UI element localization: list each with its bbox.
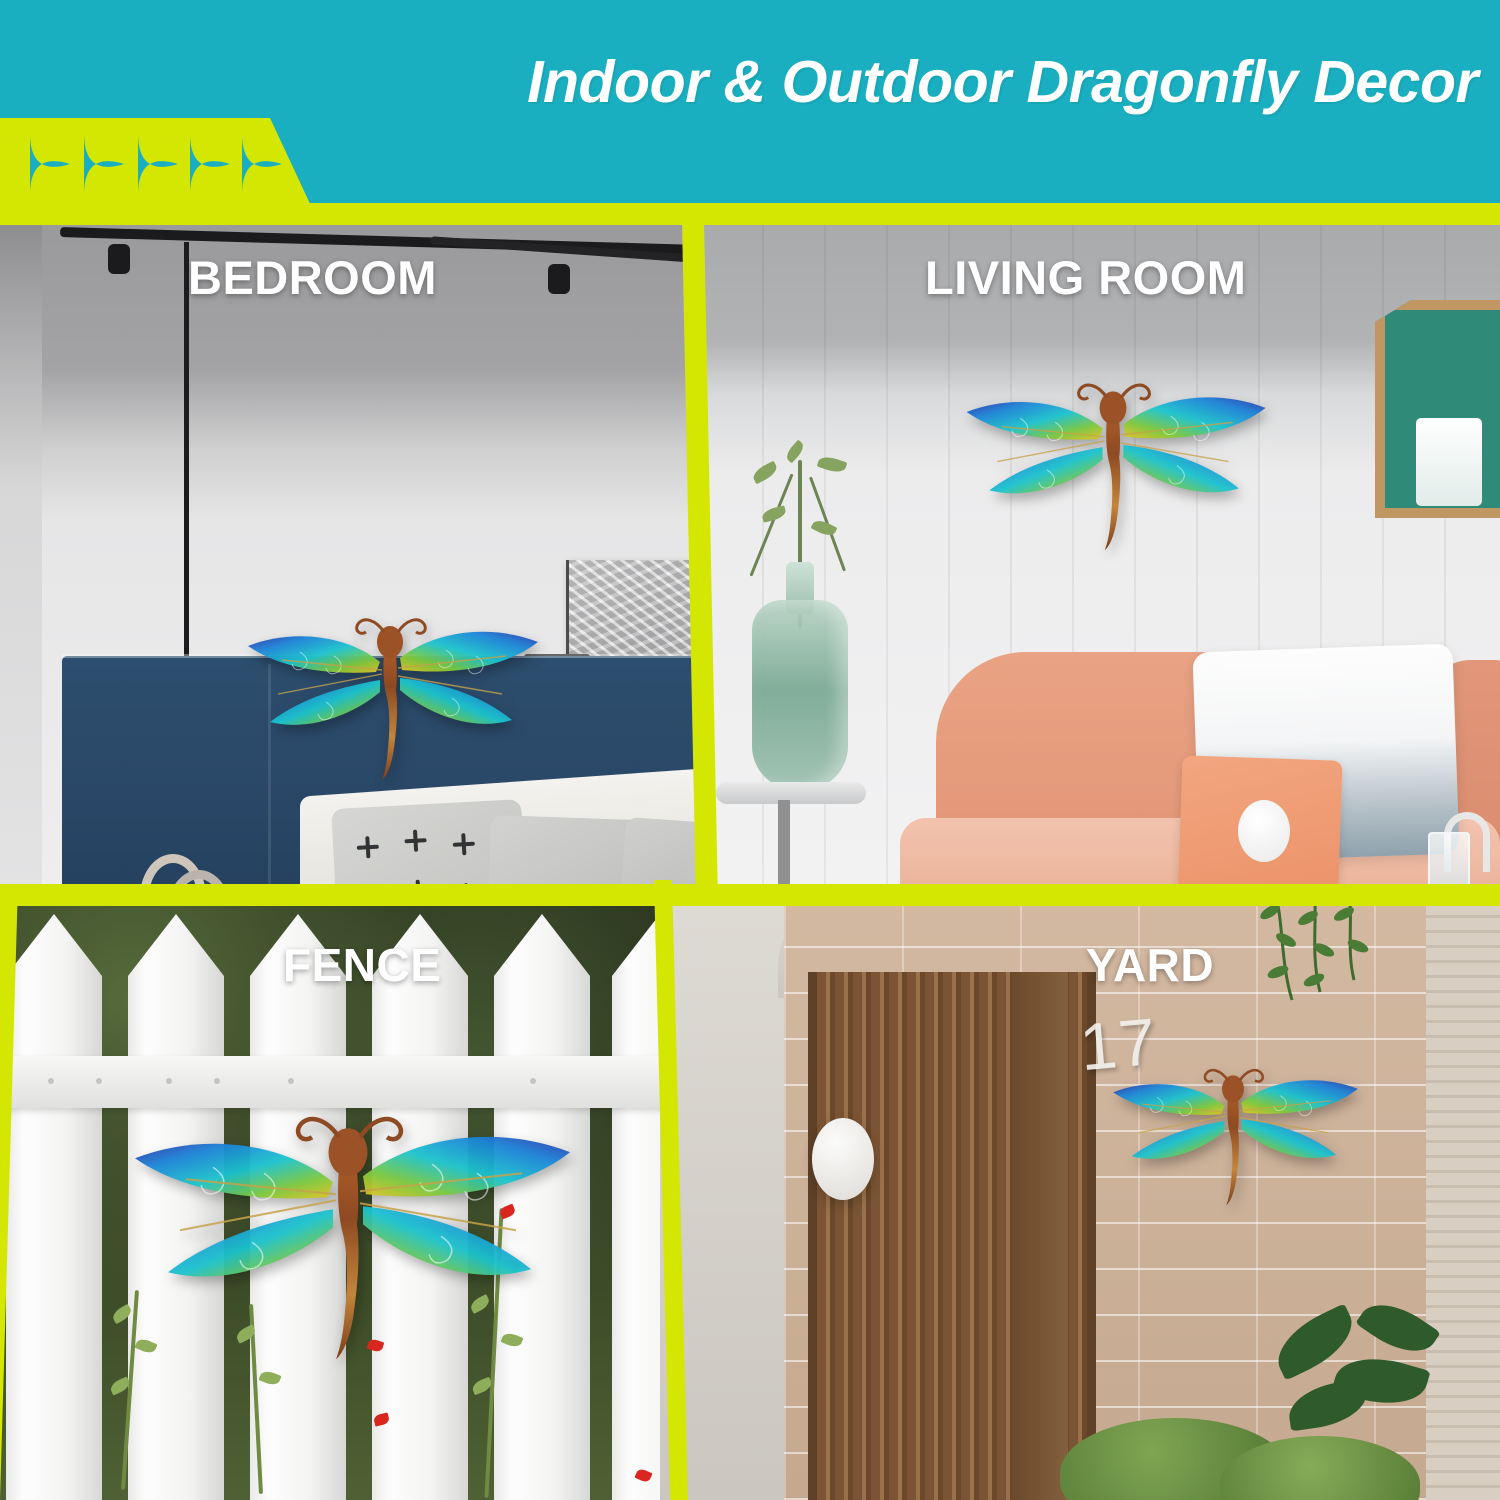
bedroom-photo xyxy=(0,222,700,888)
side-table-top xyxy=(716,782,866,804)
track-spotlight-icon xyxy=(108,244,130,274)
track-spotlight-icon xyxy=(548,264,570,294)
header-banner: Indoor & Outdoor Dragonfly Decor xyxy=(0,0,1500,206)
panel-label-yard: YARD xyxy=(1086,938,1214,992)
side-table-leg xyxy=(778,800,790,888)
yard-photo: 17 xyxy=(660,888,1500,1500)
green-glass-vase xyxy=(752,600,848,790)
fence-nail xyxy=(48,1078,54,1084)
chevron-arrow-icon xyxy=(238,133,286,195)
dragonfly-wall-decor[interactable] xyxy=(1098,1044,1368,1219)
pompom-decoration xyxy=(1238,800,1290,862)
globe-porch-light xyxy=(812,1118,874,1200)
panel-label-living-room: LIVING ROOM xyxy=(925,250,1246,305)
header-divider-band xyxy=(0,203,1500,225)
chevron-arrow-icon xyxy=(26,133,74,195)
scene-panel-yard[interactable]: 17 xyxy=(660,888,1500,1500)
page-title: Indoor & Outdoor Dragonfly Decor xyxy=(170,52,1490,114)
divider-horizontal xyxy=(0,884,1500,906)
panel-label-fence: FENCE xyxy=(283,938,441,992)
gate-post xyxy=(1012,972,1068,1500)
hanging-vine xyxy=(1258,888,1378,1038)
bed-pillow xyxy=(614,817,700,888)
scene-grid: 17 xyxy=(0,222,1500,1500)
drinking-glass xyxy=(1428,832,1470,888)
arrow-decoration-group xyxy=(26,133,296,195)
scene-panel-living-room[interactable] xyxy=(700,222,1500,888)
chevron-arrow-icon xyxy=(186,133,234,195)
shelf-candle-vase xyxy=(1416,418,1482,506)
scene-panel-bedroom[interactable] xyxy=(0,222,700,888)
pendant-cord xyxy=(184,242,189,712)
fence-picket xyxy=(612,914,660,1500)
chevron-arrow-icon xyxy=(134,133,182,195)
side-siding-wall xyxy=(1426,888,1500,1500)
fence-nail xyxy=(96,1078,102,1084)
fence-picket xyxy=(6,914,102,1500)
promo-image: Indoor & Outdoor Dragonfly Decor xyxy=(0,0,1500,1500)
dragonfly-wall-decor[interactable] xyxy=(108,1028,588,1428)
dragonfly-wall-decor[interactable] xyxy=(948,352,1278,568)
panel-label-bedroom: BEDROOM xyxy=(188,250,437,305)
dragonfly-wall-decor[interactable] xyxy=(230,590,550,795)
bedroom-side-wall xyxy=(0,222,42,888)
chevron-arrow-icon xyxy=(80,133,128,195)
living-room-photo xyxy=(700,222,1500,888)
